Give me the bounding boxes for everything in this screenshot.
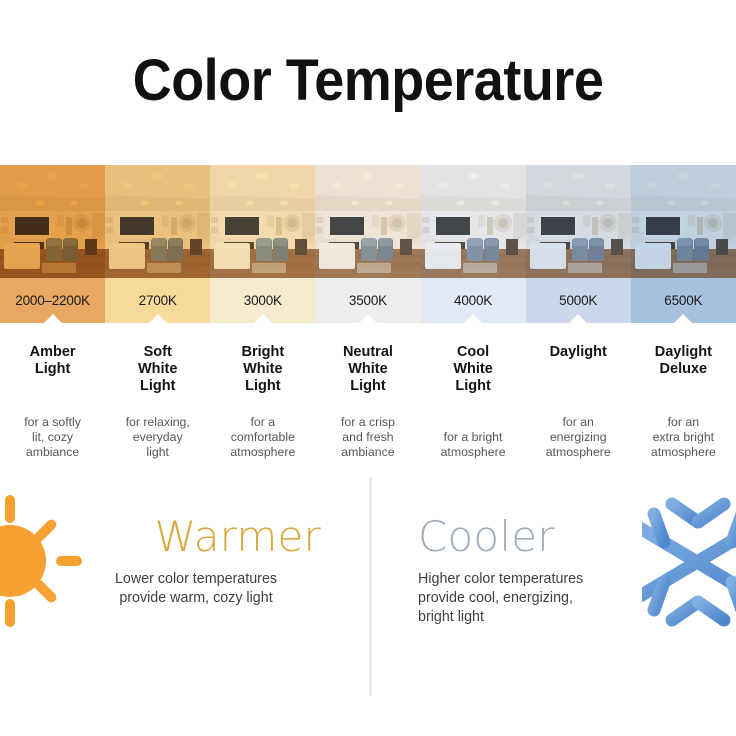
swatch-notch bbox=[44, 314, 62, 323]
cooler-panel: Cooler Higher color temperaturesprovide … bbox=[372, 470, 736, 736]
room-photo-1 bbox=[0, 165, 105, 278]
warmer-heading: Warmer bbox=[71, 516, 321, 558]
photo-tint-highlight bbox=[0, 165, 105, 278]
light-description: for anextra brightatmosphere bbox=[651, 415, 716, 470]
room-photo-2 bbox=[105, 165, 210, 278]
swatch-notch bbox=[464, 314, 482, 323]
kelvin-label: 3000K bbox=[244, 293, 282, 308]
light-description: for a brightatmosphere bbox=[441, 430, 506, 470]
temperature-column-5: CoolWhiteLightfor a brightatmosphere bbox=[421, 330, 526, 470]
photo-tint-highlight bbox=[210, 165, 315, 278]
temperature-column-3: BrightWhiteLightfor acomfortableatmosphe… bbox=[210, 330, 315, 470]
photo-tint-highlight bbox=[315, 165, 420, 278]
light-description: for anenergizingatmosphere bbox=[546, 415, 611, 470]
room-photo-7 bbox=[631, 165, 736, 278]
title-area: Color Temperature bbox=[0, 0, 736, 160]
temperature-column-1: AmberLightfor a softlylit, cozyambiance bbox=[0, 330, 105, 470]
color-temperature-infographic: Color Temperature bbox=[0, 0, 736, 736]
kelvin-label: 2700K bbox=[139, 293, 177, 308]
kelvin-swatch-7[interactable]: 6500K bbox=[631, 278, 736, 323]
page-title: Color Temperature bbox=[133, 47, 604, 114]
room-photo-6 bbox=[526, 165, 631, 278]
warm-cool-comparison: Warmer Lower color temperaturesprovide w… bbox=[0, 470, 736, 736]
temperature-columns: AmberLightfor a softlylit, cozyambianceS… bbox=[0, 330, 736, 470]
swatch-notch bbox=[359, 314, 377, 323]
kelvin-swatch-1[interactable]: 2000–2200K bbox=[0, 278, 105, 323]
photo-tint-highlight bbox=[526, 165, 631, 278]
living-room-amber bbox=[0, 165, 105, 278]
light-name: DaylightDeluxe bbox=[655, 344, 712, 378]
cooler-heading: Cooler bbox=[418, 516, 668, 558]
sun-icon bbox=[0, 495, 82, 627]
living-room-bright-white bbox=[210, 165, 315, 278]
kelvin-swatch-5[interactable]: 4000K bbox=[421, 278, 526, 323]
light-name: Daylight bbox=[550, 344, 607, 361]
temperature-column-6: Daylightfor anenergizingatmosphere bbox=[526, 330, 631, 470]
kelvin-swatch-row: 2000–2200K2700K3000K3500K4000K5000K6500K bbox=[0, 278, 736, 323]
light-name: NeutralWhiteLight bbox=[343, 344, 393, 394]
room-photo-5 bbox=[421, 165, 526, 278]
cooler-text-block: Cooler Higher color temperaturesprovide … bbox=[418, 516, 668, 627]
kelvin-swatch-4[interactable]: 3500K bbox=[315, 278, 420, 323]
kelvin-label: 3500K bbox=[349, 293, 387, 308]
room-photo-strip bbox=[0, 165, 736, 278]
snowflake-icon bbox=[642, 488, 736, 636]
swatch-notch bbox=[569, 314, 587, 323]
warmer-body: Lower color temperaturesprovide warm, co… bbox=[71, 570, 321, 608]
kelvin-swatch-6[interactable]: 5000K bbox=[526, 278, 631, 323]
room-photo-4 bbox=[315, 165, 420, 278]
temperature-column-7: DaylightDeluxefor anextra brightatmosphe… bbox=[631, 330, 736, 470]
light-name: SoftWhiteLight bbox=[138, 344, 177, 394]
warmer-panel: Warmer Lower color temperaturesprovide w… bbox=[0, 470, 369, 736]
light-name: CoolWhiteLight bbox=[453, 344, 492, 394]
kelvin-label: 2000–2200K bbox=[15, 293, 90, 308]
cooler-body: Higher color temperaturesprovide cool, e… bbox=[418, 570, 668, 627]
photo-tint-highlight bbox=[631, 165, 736, 278]
swatch-notch bbox=[674, 314, 692, 323]
photo-tint-highlight bbox=[421, 165, 526, 278]
kelvin-swatch-2[interactable]: 2700K bbox=[105, 278, 210, 323]
kelvin-swatch-3[interactable]: 3000K bbox=[210, 278, 315, 323]
living-room-daylight bbox=[526, 165, 631, 278]
living-room-cool-white bbox=[421, 165, 526, 278]
light-description: for a softlylit, cozyambiance bbox=[24, 415, 81, 470]
kelvin-label: 6500K bbox=[664, 293, 702, 308]
swatch-notch bbox=[149, 314, 167, 323]
living-room-soft-white bbox=[105, 165, 210, 278]
living-room-neutral-white bbox=[315, 165, 420, 278]
photo-tint-highlight bbox=[105, 165, 210, 278]
swatch-notch bbox=[254, 314, 272, 323]
light-name: AmberLight bbox=[30, 344, 76, 378]
temperature-column-4: NeutralWhiteLightfor a crispand freshamb… bbox=[315, 330, 420, 470]
warmer-text-block: Warmer Lower color temperaturesprovide w… bbox=[71, 516, 321, 608]
light-description: for a crispand freshambiance bbox=[341, 415, 395, 470]
living-room-daylight-deluxe bbox=[631, 165, 736, 278]
temperature-column-2: SoftWhiteLightfor relaxing,everydaylight bbox=[105, 330, 210, 470]
light-name: BrightWhiteLight bbox=[241, 344, 284, 394]
kelvin-label: 4000K bbox=[454, 293, 492, 308]
kelvin-label: 5000K bbox=[559, 293, 597, 308]
room-photo-3 bbox=[210, 165, 315, 278]
light-description: for acomfortableatmosphere bbox=[230, 415, 295, 470]
light-description: for relaxing,everydaylight bbox=[126, 415, 190, 470]
